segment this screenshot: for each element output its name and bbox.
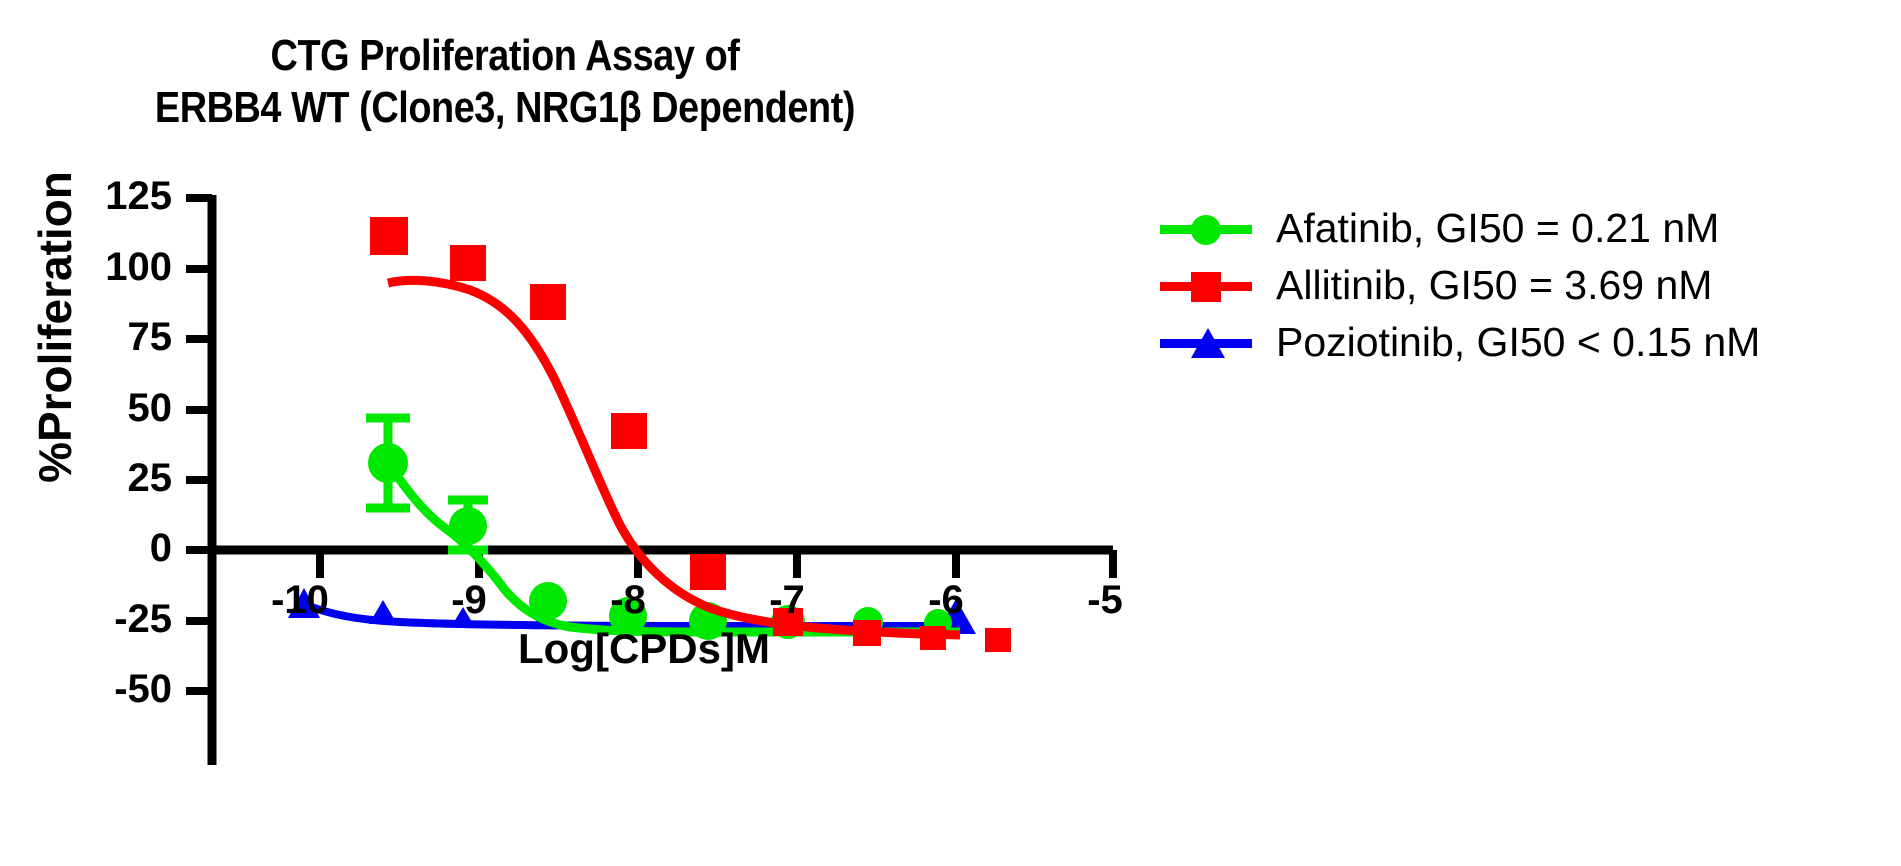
x-tick-label--10: -10	[255, 578, 345, 623]
y-tick-label--25: -25	[42, 597, 172, 642]
y-tick-label-25: 25	[42, 456, 172, 501]
legend-key-poziotinib	[1160, 326, 1252, 360]
y-tick-label-125: 125	[42, 174, 172, 219]
circle-marker-icon	[1191, 215, 1221, 245]
x-tick-label--5: -5	[1060, 578, 1150, 623]
y-tick-label--50: -50	[42, 667, 172, 712]
x-tick-label--9: -9	[424, 578, 514, 623]
legend-key-afatinib	[1160, 212, 1252, 246]
legend-label-allitinib: Allitinib, GI50 = 3.69 nM	[1276, 262, 1712, 309]
x-axis-label: Log[CPDs]M	[518, 625, 770, 673]
y-tick-label-75: 75	[42, 315, 172, 360]
x-tick-label--7: -7	[742, 578, 832, 623]
y-tick-label-50: 50	[42, 386, 172, 431]
square-marker-icon	[1191, 272, 1221, 302]
legend-item-afatinib[interactable]: Afatinib, GI50 = 0.21 nM	[1160, 200, 1760, 257]
y-tick-label-100: 100	[42, 245, 172, 290]
triangle-marker-icon	[1191, 328, 1225, 358]
chart-plot-area	[0, 0, 1901, 866]
figure-root: CTG Proliferation Assay of ERBB4 WT (Clo…	[0, 0, 1901, 866]
x-tick-label--8: -8	[583, 578, 673, 623]
legend-key-allitinib	[1160, 269, 1252, 303]
legend-label-afatinib: Afatinib, GI50 = 0.21 nM	[1276, 205, 1719, 252]
legend-item-allitinib[interactable]: Allitinib, GI50 = 3.69 nM	[1160, 257, 1760, 314]
y-tick-label-0: 0	[42, 526, 172, 571]
x-tick-label--6: -6	[901, 578, 991, 623]
legend-item-poziotinib[interactable]: Poziotinib, GI50 < 0.15 nM	[1160, 314, 1760, 371]
legend-label-poziotinib: Poziotinib, GI50 < 0.15 nM	[1276, 319, 1760, 366]
chart-legend: Afatinib, GI50 = 0.21 nM Allitinib, GI50…	[1160, 200, 1760, 371]
